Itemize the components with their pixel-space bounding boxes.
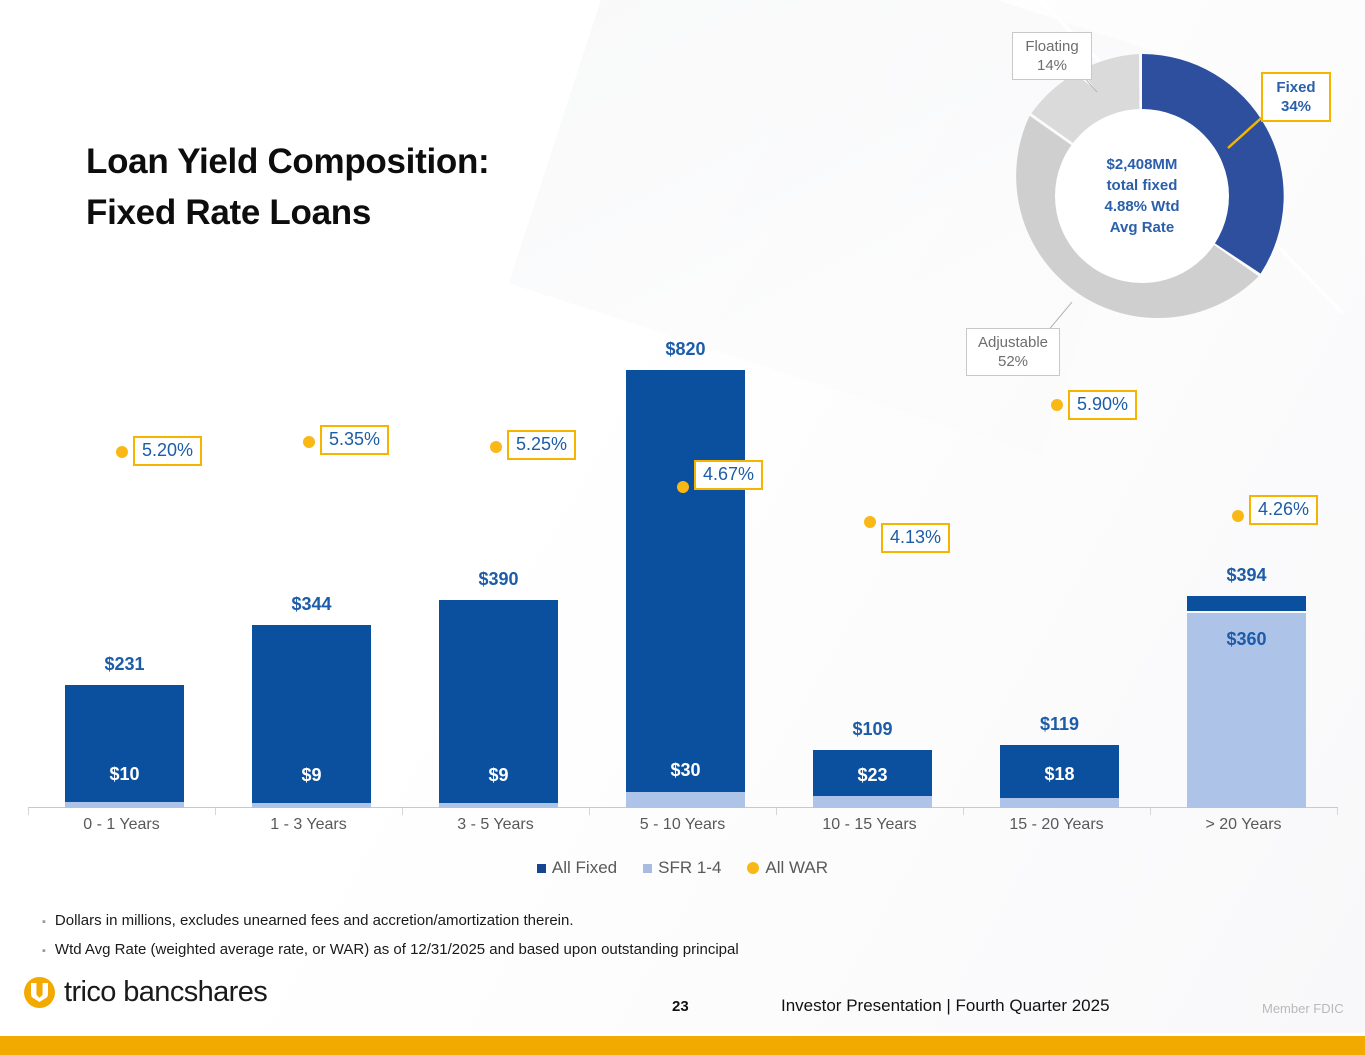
x-axis-category-label: 0 - 1 Years	[28, 816, 215, 834]
bar-sfr-label: $9	[439, 765, 558, 786]
legend-item-all-fixed[interactable]: All Fixed	[537, 858, 617, 878]
page-title: Loan Yield Composition: Fixed Rate Loans	[86, 136, 706, 238]
x-axis-category-label: 15 - 20 Years	[963, 816, 1150, 834]
company-logo: trico bancshares	[24, 976, 267, 1009]
war-marker-dot	[490, 441, 502, 453]
trico-tulip-icon	[24, 977, 55, 1008]
war-value-label: 5.90%	[1068, 390, 1137, 420]
bar-segment-sfr	[813, 796, 932, 808]
bar-total-label: $109	[813, 719, 932, 740]
bar-total-label: $231	[65, 654, 184, 675]
legend-item-sfr[interactable]: SFR 1-4	[643, 858, 721, 878]
bar-total-label: $820	[626, 339, 745, 360]
loan-maturity-bar-chart: $231 $10 $344 $9 $390 $9 $820 $30 $1	[28, 330, 1338, 808]
bar-sfr-label: $9	[252, 765, 371, 786]
legend-swatch-icon	[643, 864, 652, 873]
bar-segment-sfr	[65, 802, 184, 808]
war-value-label: 5.35%	[320, 425, 389, 455]
bar-sfr-label: $30	[626, 760, 745, 781]
war-marker-dot	[677, 481, 689, 493]
footnote-item: ▪ Dollars in millions, excludes unearned…	[42, 912, 942, 932]
slide-canvas: Loan Yield Composition: Fixed Rate Loans…	[0, 0, 1365, 1055]
bar-column-15-20-years: $119 $18	[1000, 745, 1119, 808]
bar-segment-all-fixed	[1187, 596, 1306, 611]
x-axis-category-label: 3 - 5 Years	[402, 816, 589, 834]
bar-column-3-5-years: $390 $9	[439, 600, 558, 808]
bar-segment-sfr	[626, 792, 745, 808]
footer-title: Investor Presentation | Fourth Quarter 2…	[781, 996, 1110, 1016]
bullet-icon: ▪	[42, 912, 46, 932]
legend-label: SFR 1-4	[658, 858, 721, 878]
bar-total-label: $344	[252, 594, 371, 615]
bar-segment-sfr	[439, 803, 558, 808]
bar-column-1-3-years: $344 $9	[252, 625, 371, 808]
war-marker-dot	[864, 516, 876, 528]
bar-segment-all-fixed	[626, 370, 745, 792]
war-value-label: 4.26%	[1249, 495, 1318, 525]
war-marker-dot	[1051, 399, 1063, 411]
bar-column-5-10-years: $820 $30	[626, 370, 745, 808]
bar-column-10-15-years: $109 $23	[813, 750, 932, 808]
legend-swatch-icon	[747, 862, 759, 874]
page-title-line2: Fixed Rate Loans	[86, 187, 706, 238]
donut-callout-fixed: Fixed 34%	[1261, 72, 1331, 122]
page-title-line1: Loan Yield Composition:	[86, 142, 489, 181]
war-value-label: 4.13%	[881, 523, 950, 553]
bar-column-over-20-years: $394 $360	[1187, 596, 1306, 808]
donut-center-annotation: $2,408MM total fixed 4.88% Wtd Avg Rate	[1055, 109, 1229, 283]
bar-segment-sfr	[252, 803, 371, 808]
bar-segment-sfr	[1000, 798, 1119, 808]
bar-column-0-1-years: $231 $10	[65, 685, 184, 808]
war-marker-dot	[1232, 510, 1244, 522]
logo-text: trico bancshares	[64, 976, 267, 1009]
bar-sfr-label: $10	[65, 764, 184, 785]
war-value-label: 4.67%	[694, 460, 763, 490]
footnote-item: ▪ Wtd Avg Rate (weighted average rate, o…	[42, 941, 942, 961]
chart-legend: All Fixed SFR 1-4 All WAR	[0, 858, 1365, 878]
footnote-text: Dollars in millions, excludes unearned f…	[55, 912, 574, 929]
x-axis-category-label: 1 - 3 Years	[215, 816, 402, 834]
legend-label: All WAR	[765, 858, 828, 878]
bar-sfr-label: $23	[813, 765, 932, 786]
footnotes: ▪ Dollars in millions, excludes unearned…	[42, 912, 942, 970]
war-marker-dot	[116, 446, 128, 458]
fixed-rate-donut-chart: $2,408MM total fixed 4.88% Wtd Avg Rate	[998, 52, 1286, 340]
bar-total-label: $394	[1187, 565, 1306, 586]
page-number: 23	[672, 998, 689, 1015]
donut-callout-floating: Floating 14%	[1012, 32, 1092, 80]
legend-item-all-war[interactable]: All WAR	[747, 858, 828, 878]
war-value-label: 5.25%	[507, 430, 576, 460]
war-value-label: 5.20%	[133, 436, 202, 466]
bullet-icon: ▪	[42, 941, 46, 961]
bar-total-label: $119	[1000, 714, 1119, 735]
bar-total-label: $390	[439, 569, 558, 590]
legend-swatch-icon	[537, 864, 546, 873]
legend-label: All Fixed	[552, 858, 617, 878]
bar-sfr-label: $18	[1000, 764, 1119, 785]
footnote-text: Wtd Avg Rate (weighted average rate, or …	[55, 941, 739, 958]
x-axis-category-label: > 20 Years	[1150, 816, 1337, 834]
bar-sfr-label: $360	[1187, 629, 1306, 650]
x-axis-category-label: 10 - 15 Years	[776, 816, 963, 834]
footer-gold-bar	[0, 1036, 1365, 1055]
member-fdic-notice: Member FDIC	[1262, 1001, 1344, 1016]
war-marker-dot	[303, 436, 315, 448]
x-axis-category-label: 5 - 10 Years	[589, 816, 776, 834]
x-axis-ticks	[28, 808, 1338, 815]
